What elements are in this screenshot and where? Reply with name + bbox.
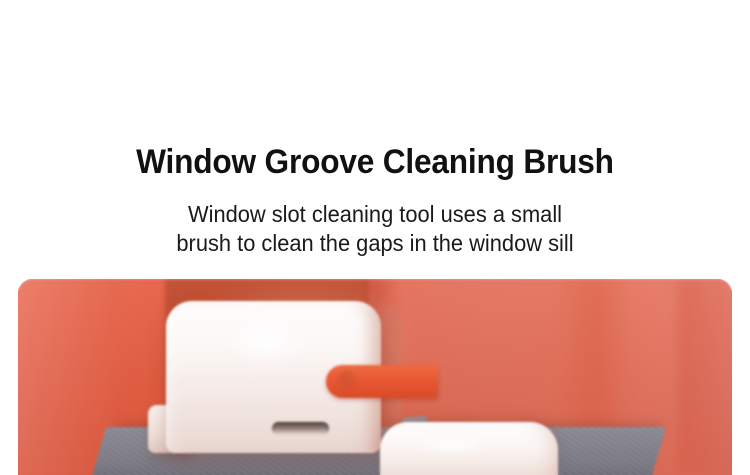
product-photo: [18, 279, 732, 475]
device-body: [166, 301, 381, 453]
product-subtitle-line-1: Window slot cleaning tool uses a small: [19, 200, 732, 229]
device-bottom-slot: [272, 422, 329, 435]
secondary-object-highlight: [404, 430, 500, 458]
page-title: Window Groove Cleaning Brush: [26, 140, 724, 184]
cleaning-brush-device: [148, 301, 381, 453]
product-subtitle: Window slot cleaning tool uses a small b…: [19, 200, 732, 258]
photo-background-band-right: [678, 279, 732, 475]
device-highlight: [206, 311, 326, 373]
product-listing-image: Window Groove Cleaning Brush Window slot…: [0, 0, 750, 475]
device-orange-stripe: [326, 365, 438, 398]
product-subtitle-line-2: brush to clean the gaps in the window si…: [19, 229, 732, 258]
device-button-knob: [336, 370, 360, 394]
secondary-white-object: [380, 422, 558, 475]
